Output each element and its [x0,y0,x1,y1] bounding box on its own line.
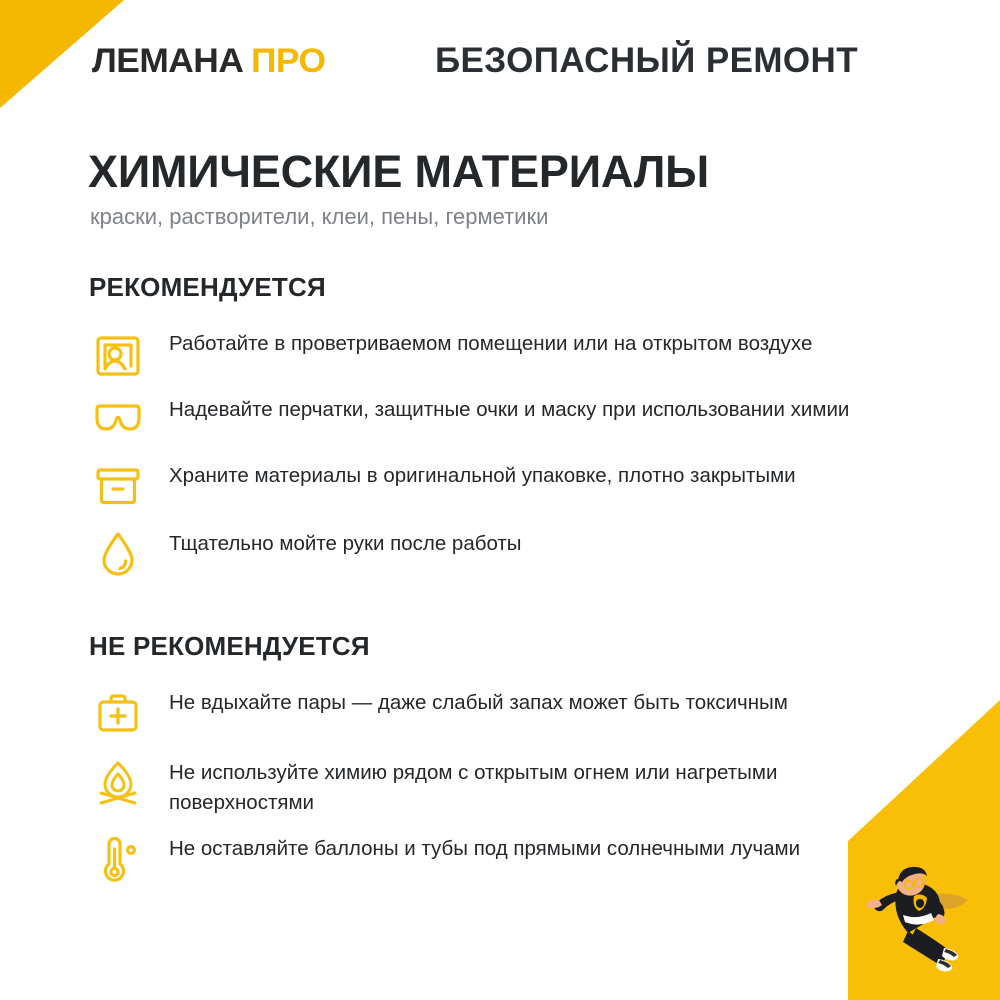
list-item: Тщательно мойте руки после работы [89,523,889,583]
brand-logo: ЛЕМАНА ПРО [92,42,322,81]
first-aid-kit-icon [89,684,147,742]
list-item: Не оставляйте баллоны и тубы под прямыми… [89,828,889,888]
brand-logo-accent: ПРО [251,42,325,81]
list-item: Не используйте химию рядом с открытым ог… [89,752,889,818]
flying-superhero-illustration [850,856,990,976]
open-flame-icon [89,754,147,812]
recommended-list: Работайте в проветриваемом помещении или… [89,325,889,589]
water-droplet-icon [89,525,147,583]
list-item: Надевайте перчатки, защитные очки и маск… [89,389,889,449]
list-item: Не вдыхайте пары — даже слабый запах мож… [89,682,889,742]
storage-box-icon [89,457,147,515]
list-item-label: Работайте в проветриваемом помещении или… [169,325,812,359]
section-heading-not-recommended: НЕ РЕКОМЕНДУЕТСЯ [89,631,370,662]
list-item: Работайте в проветриваемом помещении или… [89,325,889,385]
list-item: Храните материалы в оригинальной упаковк… [89,455,889,515]
brand-logo-main: ЛЕМАНА [92,42,243,81]
section-heading-recommended: РЕКОМЕНДУЕТСЯ [89,272,326,303]
safety-goggles-icon [89,391,147,449]
list-item-label: Не оставляйте баллоны и тубы под прямыми… [169,828,800,864]
page-subtitle: краски, растворители, клеи, пены, гермет… [90,204,548,230]
page-header: ЛЕМАНА ПРО БЕЗОПАСНЫЙ РЕМОНТ [0,0,1000,120]
ventilation-window-icon [89,327,147,385]
list-item-label: Храните материалы в оригинальной упаковк… [169,455,796,491]
list-item-label: Надевайте перчатки, защитные очки и маск… [169,389,849,425]
list-item-label: Не используйте химию рядом с открытым ог… [169,752,889,818]
thermometer-sun-icon [89,830,147,888]
list-item-label: Тщательно мойте руки после работы [169,523,522,559]
page-title: ХИМИЧЕСКИЕ МАТЕРИАЛЫ [88,146,709,198]
list-item-label: Не вдыхайте пары — даже слабый запах мож… [169,682,788,718]
header-title: БЕЗОПАСНЫЙ РЕМОНТ [435,41,858,81]
not-recommended-list: Не вдыхайте пары — даже слабый запах мож… [89,682,889,894]
